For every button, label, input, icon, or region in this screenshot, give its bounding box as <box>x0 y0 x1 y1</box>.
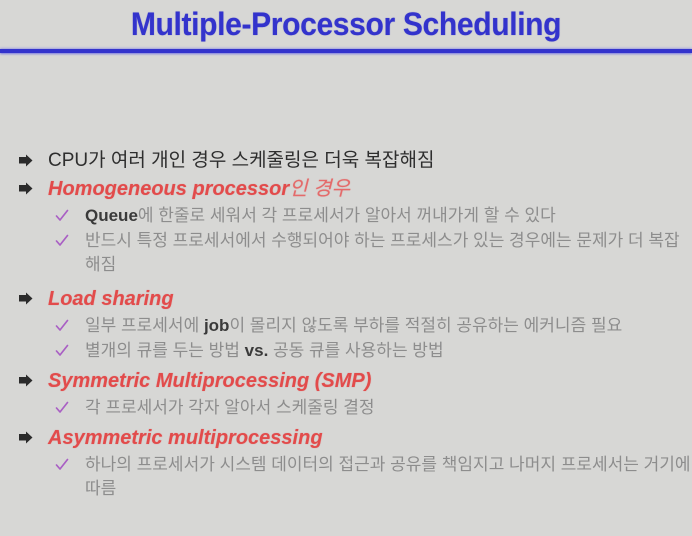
checkmark-bullet-icon <box>55 209 69 223</box>
outline-body: CPU가 여러 개인 경우 스케줄링은 더욱 복잡해짐 Homogeneous … <box>0 148 692 502</box>
sub-item-queue-label: Queue에 한줄로 세워서 각 프로세서가 알아서 꺼내가게 할 수 있다 <box>85 206 556 225</box>
page-title: Multiple-Processor Scheduling <box>21 4 671 44</box>
homogeneous-korean: 인 경우 <box>289 178 350 200</box>
outline-item-load-sharing: Load sharing <box>0 286 692 312</box>
queue-rest: 에 한줄로 세워서 각 프로세서가 알아서 꺼내가게 할 수 있다 <box>138 206 556 225</box>
vs-keyword: vs. <box>245 341 269 360</box>
homogeneous-latin: Homogeneous processor <box>48 178 289 200</box>
sub-item-asymmetric-detail: 하나의 프로세서가 시스템 데이터의 접근과 공유를 책임지고 나머지 프로세서… <box>0 453 692 501</box>
sub-item-specific-processor: 반드시 특정 프로세서에서 수행되어야 하는 프로세스가 있는 경우에는 문제가… <box>0 229 692 277</box>
sub-item-queue: Queue에 한줄로 세워서 각 프로세서가 알아서 꺼내가게 할 수 있다 <box>0 204 692 228</box>
queue-strategy-pre: 별개의 큐를 두는 방법 <box>85 341 245 360</box>
arrow-right-bullet-icon <box>18 182 34 196</box>
checkmark-bullet-icon <box>55 319 69 333</box>
slide: Multiple-Processor Scheduling CPU가 여러 개인… <box>0 0 692 536</box>
job-keyword: job <box>204 316 230 335</box>
checkmark-bullet-icon <box>55 234 69 248</box>
slide-title-area: Multiple-Processor Scheduling <box>0 0 692 52</box>
sub-item-queue-strategy-label: 별개의 큐를 두는 방법 vs. 공동 큐를 사용하는 방법 <box>85 341 444 360</box>
arrow-right-bullet-icon <box>18 154 34 168</box>
outline-item-asymmetric-label: Asymmetric multiprocessing <box>48 427 323 449</box>
sub-item-smp-detail-label: 각 프로세서가 각자 알아서 스케줄링 결정 <box>85 398 375 417</box>
queue-strategy-rest: 공동 큐를 사용하는 방법 <box>268 341 443 360</box>
sub-item-smp-detail: 각 프로세서가 각자 알아서 스케줄링 결정 <box>0 396 692 420</box>
title-divider <box>0 49 692 53</box>
arrow-right-bullet-icon <box>18 292 34 306</box>
outline-item-homogeneous-label: Homogeneous processor인 경우 <box>48 178 350 200</box>
outline-item-load-sharing-label: Load sharing <box>48 288 174 310</box>
checkmark-bullet-icon <box>55 458 69 472</box>
outline-item-smp: Symmetric Multiprocessing (SMP) <box>0 368 692 394</box>
outline-item-smp-label: Symmetric Multiprocessing (SMP) <box>48 370 371 392</box>
sub-item-job-balance-label: 일부 프로세서에 job이 몰리지 않도록 부하를 적절히 공유하는 에커니즘 … <box>85 316 622 335</box>
sub-item-queue-strategy: 별개의 큐를 두는 방법 vs. 공동 큐를 사용하는 방법 <box>0 339 692 363</box>
spacer <box>0 278 692 286</box>
outline-item-cpu-label: CPU가 여러 개인 경우 스케줄링은 더욱 복잡해짐 <box>48 150 434 171</box>
outline-item-homogeneous: Homogeneous processor인 경우 <box>0 176 692 202</box>
sub-item-job-balance: 일부 프로세서에 job이 몰리지 않도록 부하를 적절히 공유하는 에커니즘 … <box>0 314 692 338</box>
outline-item-cpu: CPU가 여러 개인 경우 스케줄링은 더욱 복잡해짐 <box>0 148 692 174</box>
queue-keyword: Queue <box>85 206 138 225</box>
checkmark-bullet-icon <box>55 344 69 358</box>
sub-item-specific-processor-label: 반드시 특정 프로세서에서 수행되어야 하는 프로세스가 있는 경우에는 문제가… <box>85 231 680 274</box>
sub-item-asymmetric-detail-label: 하나의 프로세서가 시스템 데이터의 접근과 공유를 책임지고 나머지 프로세서… <box>85 455 691 498</box>
checkmark-bullet-icon <box>55 401 69 415</box>
job-balance-rest: 이 몰리지 않도록 부하를 적절히 공유하는 에커니즘 필요 <box>229 316 622 335</box>
outline-item-asymmetric: Asymmetric multiprocessing <box>0 425 692 451</box>
arrow-right-bullet-icon <box>18 431 34 445</box>
job-balance-pre: 일부 프로세서에 <box>85 316 204 335</box>
arrow-right-bullet-icon <box>18 374 34 388</box>
